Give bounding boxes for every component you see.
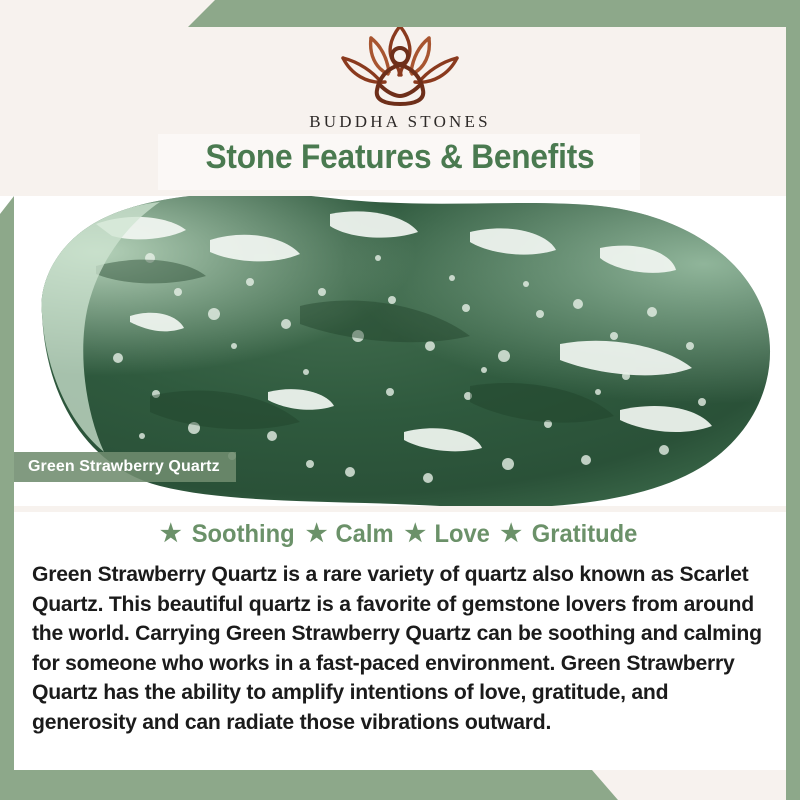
star-icon: ★	[500, 522, 522, 546]
keyword-label: Soothing	[191, 520, 294, 549]
page-title: Stone Features & Benefits	[28, 138, 772, 177]
keyword-label: Love	[434, 520, 489, 549]
frame-right-band	[786, 0, 800, 800]
star-icon: ★	[404, 522, 426, 546]
photo-caption: Green Strawberry Quartz	[14, 452, 236, 482]
keyword-label: Gratitude	[532, 520, 638, 549]
brand-logo: BUDDHA STONES	[0, 18, 800, 132]
keyword-item-gratitude: ★ Gratitude	[500, 520, 640, 549]
keyword-item-soothing: ★ Soothing	[160, 520, 297, 549]
keyword-list: ★ Soothing ★ Calm ★ Love ★ Gratitude	[14, 520, 786, 549]
star-icon: ★	[160, 522, 182, 546]
description-text: Green Strawberry Quartz is a rare variet…	[32, 560, 763, 737]
lotus-meditation-figure-icon	[315, 18, 485, 110]
content-top-strip	[14, 506, 786, 512]
content-panel: ★ Soothing ★ Calm ★ Love ★ Gratitude Gre…	[14, 506, 786, 770]
keyword-item-love: ★ Love	[404, 520, 491, 549]
star-icon: ★	[306, 522, 328, 546]
stone-features-infographic: BUDDHA STONES Stone Features & Benefits	[0, 0, 800, 800]
brand-wordmark: BUDDHA STONES	[0, 112, 800, 132]
keyword-item-calm: ★ Calm	[306, 520, 396, 549]
keyword-label: Calm	[336, 520, 394, 549]
